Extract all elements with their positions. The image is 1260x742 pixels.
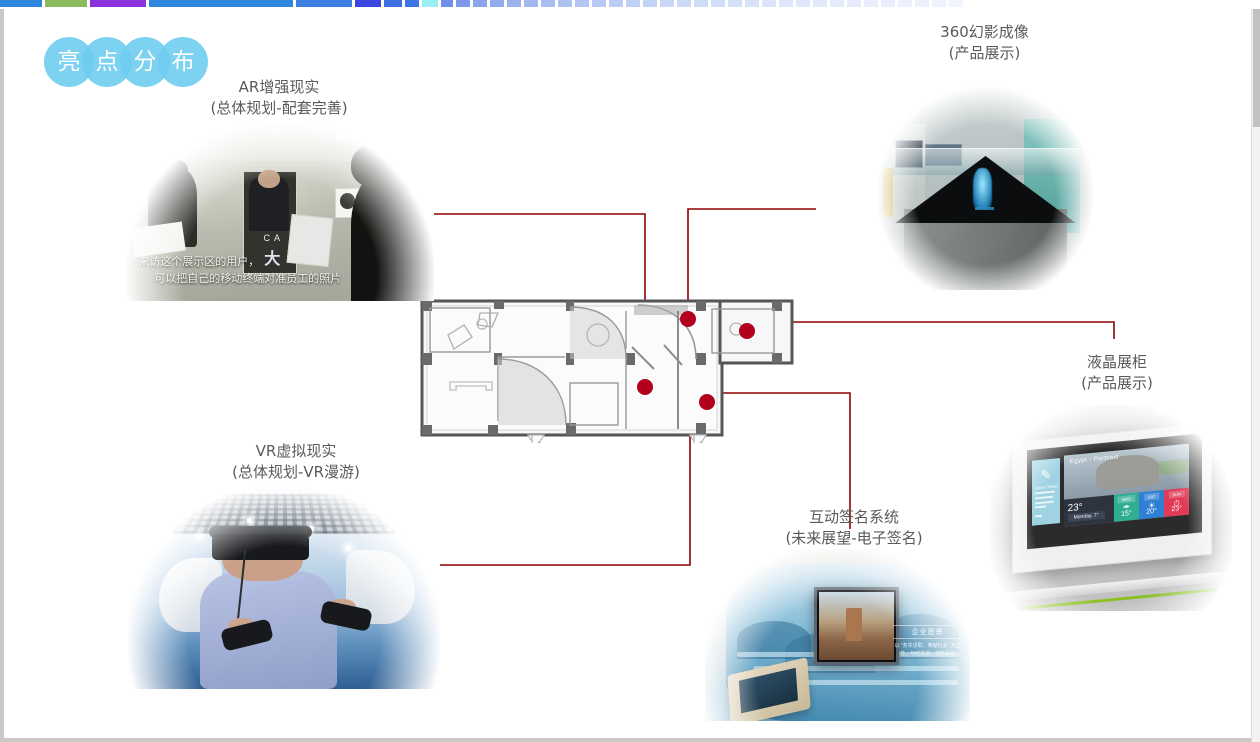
hotspot-signature bbox=[699, 394, 715, 410]
timeline-segment-17 bbox=[558, 0, 572, 7]
timeline-segment-39 bbox=[932, 0, 946, 7]
timeline-segment-25 bbox=[694, 0, 708, 7]
timeline-segment-8 bbox=[405, 0, 419, 7]
timeline-segment-3 bbox=[90, 0, 146, 7]
title-char-2: 点 bbox=[96, 51, 119, 74]
lcd-tile-wed: WED ☂ 15° bbox=[1114, 492, 1139, 521]
callout-lcd-photo[interactable]: ✎ Latest Tweet bbox=[990, 405, 1232, 611]
timeline-segment-5 bbox=[296, 0, 352, 7]
lcd-tile-sat: SAT ☀ 20° bbox=[1139, 490, 1164, 519]
callout-360-photo[interactable] bbox=[878, 87, 1093, 290]
presentation-slide: 亮 点 分 布 bbox=[0, 0, 1260, 742]
callout-ar-title: AR增强现实 bbox=[194, 77, 364, 98]
timeline-segment-31 bbox=[796, 0, 810, 7]
hotspot-lcd bbox=[739, 323, 755, 339]
lcd-current-temp-tile: 23° Monday, 7° bbox=[1063, 495, 1113, 527]
timeline-segment-36 bbox=[881, 0, 895, 7]
lcd-tile-sat-value: 20° bbox=[1139, 507, 1164, 516]
timeline-segment-38 bbox=[915, 0, 929, 7]
lcd-tile-wed-value: 15° bbox=[1114, 509, 1139, 518]
timeline-segment-14 bbox=[507, 0, 521, 7]
timeline-segment-19 bbox=[592, 0, 606, 7]
timeline-segment-28 bbox=[745, 0, 759, 7]
callout-signature-label: 互动签名系统 (未来展望-电子签名) bbox=[764, 507, 944, 549]
title-char-1: 亮 bbox=[58, 51, 81, 74]
lcd-tile-sat-label: SAT bbox=[1144, 492, 1159, 500]
ar-photo-caption: 来访这个展示区的用户， 可以把自己的移动终端对准员工的照片 bbox=[138, 253, 421, 287]
timeline-segment-32 bbox=[813, 0, 827, 7]
lcd-twitter-panel: ✎ Latest Tweet bbox=[1032, 458, 1060, 526]
timeline-segment-33 bbox=[830, 0, 844, 7]
timeline-segment-21 bbox=[626, 0, 640, 7]
timeline-segment-40 bbox=[949, 0, 963, 7]
callout-vr-title: VR虚拟现实 bbox=[216, 441, 376, 462]
timeline-segment-26 bbox=[711, 0, 725, 7]
timeline-segment-9 bbox=[422, 0, 438, 7]
timeline-progress-strip bbox=[0, 0, 1260, 9]
title-char-3: 分 bbox=[134, 51, 157, 74]
callout-signature-photo[interactable]: 企业愿景 以 "务实进取、奉献社会" 为己任，与时俱进，创新百年 bbox=[705, 549, 970, 721]
window-left-border bbox=[0, 9, 4, 742]
timeline-segment-22 bbox=[643, 0, 657, 7]
timeline-segment-10 bbox=[441, 0, 453, 7]
signature-wall-text: 企业愿景 以 "务实进取、奉献社会" 为己任，与时俱进，创新百年 bbox=[893, 625, 962, 658]
callout-vr-photo[interactable] bbox=[128, 485, 440, 689]
timeline-segment-34 bbox=[847, 0, 861, 7]
signature-wall-display bbox=[814, 587, 900, 665]
timeline-segment-30 bbox=[779, 0, 793, 7]
timeline-segment-7 bbox=[384, 0, 402, 7]
callout-signature-title: 互动签名系统 bbox=[764, 507, 944, 528]
callout-lcd-title: 液晶展柜 bbox=[1052, 352, 1182, 373]
title-char-4: 布 bbox=[172, 51, 195, 74]
lcd-weather-screen: Egypt - Portsaid 23° Monday, 7° WED ☂ 15… bbox=[1063, 443, 1189, 526]
timeline-segment-37 bbox=[898, 0, 912, 7]
hotspot-ar bbox=[637, 379, 653, 395]
callout-ar-subtitle: (总体规划-配套完善) bbox=[194, 98, 364, 119]
timeline-segment-11 bbox=[456, 0, 470, 7]
signature-wall-heading: 企业愿景 bbox=[893, 625, 962, 639]
vertical-scrollbar[interactable] bbox=[1251, 9, 1260, 742]
callout-360-subtitle: (产品展示) bbox=[912, 43, 1057, 64]
timeline-segment-23 bbox=[660, 0, 674, 7]
lcd-tile-wed-label: WED bbox=[1117, 495, 1134, 504]
timeline-segment-15 bbox=[524, 0, 538, 7]
lcd-tile-sun: SUN ⏱ 23° bbox=[1164, 487, 1189, 516]
ar-caption-line-1: 来访这个展示区的用户， bbox=[138, 253, 421, 270]
slide-canvas: 亮 点 分 布 bbox=[4, 9, 1252, 738]
timeline-segment-1 bbox=[0, 0, 42, 7]
callout-lcd-label: 液晶展柜 (产品展示) bbox=[1052, 352, 1182, 394]
lcd-tile-sun-value: 23° bbox=[1164, 505, 1189, 514]
callout-vr-label: VR虚拟现实 (总体规划-VR漫游) bbox=[216, 441, 376, 483]
callout-lcd-subtitle: (产品展示) bbox=[1052, 373, 1182, 394]
timeline-segment-16 bbox=[541, 0, 555, 7]
callout-360-label: 360幻影成像 (产品展示) bbox=[912, 22, 1057, 64]
connector-lcd bbox=[747, 322, 1114, 339]
callout-signature-subtitle: (未来展望-电子签名) bbox=[764, 528, 944, 549]
lcd-tweet-header: Latest Tweet bbox=[1035, 483, 1058, 490]
window-bottom-border bbox=[0, 738, 1256, 742]
timeline-segment-29 bbox=[762, 0, 776, 7]
exhibition-hall-floor-plan[interactable] bbox=[420, 297, 796, 443]
callout-360-title: 360幻影成像 bbox=[912, 22, 1057, 43]
twitter-bird-icon: ✎ bbox=[1040, 467, 1051, 484]
signature-wall-body: 以 "务实进取、奉献社会" 为己任，与时俱进，创新百年 bbox=[893, 642, 962, 658]
scrollbar-thumb[interactable] bbox=[1253, 9, 1260, 127]
hotspot-360 bbox=[680, 311, 696, 327]
timeline-segment-12 bbox=[473, 0, 487, 7]
callout-vr-subtitle: (总体规划-VR漫游) bbox=[216, 462, 376, 483]
timeline-segment-2 bbox=[45, 0, 87, 7]
lcd-tile-sun-label: SUN bbox=[1168, 490, 1184, 499]
ar-caption-line-2: 可以把自己的移动终端对准员工的照片 bbox=[138, 270, 421, 287]
timeline-segment-18 bbox=[575, 0, 589, 7]
callout-ar-photo[interactable]: C A 大 来访这个展示区的用户， 可以把自己的移动终端对准员工的照片 bbox=[126, 121, 434, 301]
timeline-segment-13 bbox=[490, 0, 504, 7]
timeline-segment-4 bbox=[149, 0, 293, 7]
connector-360 bbox=[688, 209, 816, 309]
callout-ar-label: AR增强现实 (总体规划-配套完善) bbox=[194, 77, 364, 119]
lcd-temperature: 23° bbox=[1067, 501, 1082, 513]
timeline-segment-20 bbox=[609, 0, 623, 7]
timeline-segment-24 bbox=[677, 0, 691, 7]
timeline-segment-35 bbox=[864, 0, 878, 7]
timeline-segment-6 bbox=[355, 0, 381, 7]
timeline-segment-27 bbox=[728, 0, 742, 7]
